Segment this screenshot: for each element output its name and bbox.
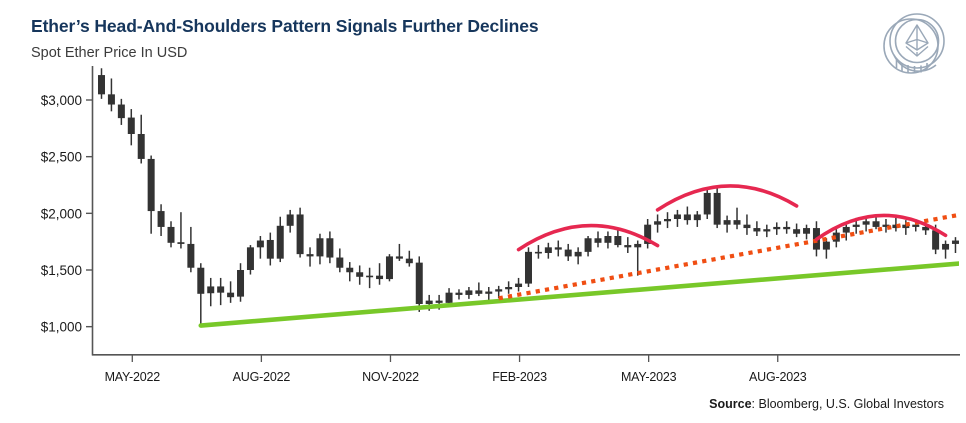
- candlestick: [297, 208, 304, 258]
- head-arc: [658, 186, 797, 210]
- candlestick: [604, 231, 611, 248]
- candlestick: [565, 244, 572, 261]
- candlestick: [843, 225, 850, 241]
- candlestick: [952, 237, 959, 253]
- candlestick: [734, 208, 741, 230]
- candlestick: [942, 241, 949, 259]
- candlestick: [595, 231, 602, 247]
- candlestick: [128, 109, 135, 145]
- candlestick: [207, 278, 214, 306]
- candlestick: [386, 254, 393, 281]
- x-tick-label: AUG-2022: [233, 370, 291, 384]
- x-tick-label: FEB-2023: [492, 370, 547, 384]
- candlestick-series: [98, 68, 959, 326]
- source-note: Source: Bloomberg, U.S. Global Investors: [709, 397, 944, 411]
- candlestick: [336, 248, 343, 272]
- candlestick: [475, 282, 482, 296]
- candlestick: [237, 263, 244, 302]
- candlestick: [98, 68, 105, 99]
- candlestick: [793, 224, 800, 238]
- candlestick: [585, 236, 592, 256]
- candlestick: [187, 227, 194, 272]
- y-tick-label: $2,000: [41, 206, 82, 221]
- candlestick: [307, 247, 314, 266]
- candlestick: [217, 278, 224, 305]
- candlestick: [694, 211, 701, 227]
- x-axis-tick-labels: MAY-2022AUG-2022NOV-2022FEB-2023MAY-2023…: [105, 370, 807, 384]
- plot-area: $1,000$1,500$2,000$2,500$3,000 MAY-2022A…: [0, 0, 966, 423]
- candlestick: [535, 245, 542, 259]
- candlestick: [704, 188, 711, 219]
- candlestick: [624, 237, 631, 253]
- candlestick: [634, 241, 641, 276]
- candlestick: [247, 245, 254, 274]
- candlestick: [684, 207, 691, 225]
- candlestick: [416, 256, 423, 312]
- x-tick-label: MAY-2022: [105, 370, 161, 384]
- candlestick: [515, 278, 522, 292]
- candlestick: [277, 217, 284, 262]
- candlestick: [148, 156, 155, 234]
- candlestick: [326, 231, 333, 263]
- candlestick: [654, 214, 661, 232]
- y-tick-label: $1,000: [41, 320, 82, 335]
- candlestick: [446, 288, 453, 305]
- candlestick: [763, 225, 770, 237]
- candlestick: [168, 221, 175, 247]
- candlestick: [525, 247, 532, 287]
- candlestick: [753, 221, 760, 236]
- candlestick: [287, 210, 294, 233]
- candlestick: [674, 210, 681, 227]
- x-tick-label: AUG-2023: [749, 370, 807, 384]
- candlestick: [138, 115, 145, 164]
- y-tick-label: $3,000: [41, 93, 82, 108]
- candlestick: [376, 263, 383, 285]
- candlestick: [664, 212, 671, 228]
- candlestick: [714, 187, 721, 228]
- candlestick: [545, 243, 552, 259]
- candlestick: [366, 268, 373, 288]
- y-axis-tick-marks: [86, 100, 92, 327]
- y-tick-label: $2,500: [41, 150, 82, 165]
- candlestick: [505, 281, 512, 293]
- y-axis-tick-labels: $1,000$1,500$2,000$2,500$3,000: [41, 93, 82, 335]
- chart-annotations: [201, 186, 966, 326]
- candlestick: [783, 221, 790, 233]
- x-tick-label: NOV-2022: [362, 370, 419, 384]
- candlestick: [575, 247, 582, 264]
- source-text: : Bloomberg, U.S. Global Investors: [752, 397, 944, 411]
- candlestick: [803, 225, 810, 240]
- candlestick: [257, 236, 264, 259]
- candlestick: [108, 78, 115, 111]
- candlestick: [465, 287, 472, 299]
- candlestick: [197, 263, 204, 326]
- candlestick: [227, 281, 234, 303]
- source-label: Source: [709, 397, 751, 411]
- candlestick: [455, 289, 462, 299]
- ether-candlestick-chart: Ether’s Head-And-Shoulders Pattern Signa…: [0, 0, 966, 423]
- candlestick: [396, 244, 403, 261]
- x-tick-label: MAY-2023: [621, 370, 677, 384]
- candlestick: [267, 233, 274, 266]
- candlestick: [555, 241, 562, 257]
- y-tick-label: $1,500: [41, 263, 82, 278]
- candlestick: [614, 229, 621, 247]
- candlestick: [406, 251, 413, 267]
- candlestick: [346, 262, 353, 281]
- candlestick: [724, 216, 731, 233]
- x-axis-tick-marks: [132, 355, 777, 362]
- candlestick: [177, 212, 184, 248]
- candlestick: [485, 287, 492, 301]
- candlestick: [118, 99, 125, 125]
- candlestick: [316, 234, 323, 265]
- candlestick: [773, 222, 780, 234]
- support-trendline: [201, 260, 966, 326]
- candlestick: [158, 204, 165, 236]
- candlestick: [644, 219, 651, 248]
- candlestick: [356, 265, 363, 284]
- candlestick: [743, 214, 750, 234]
